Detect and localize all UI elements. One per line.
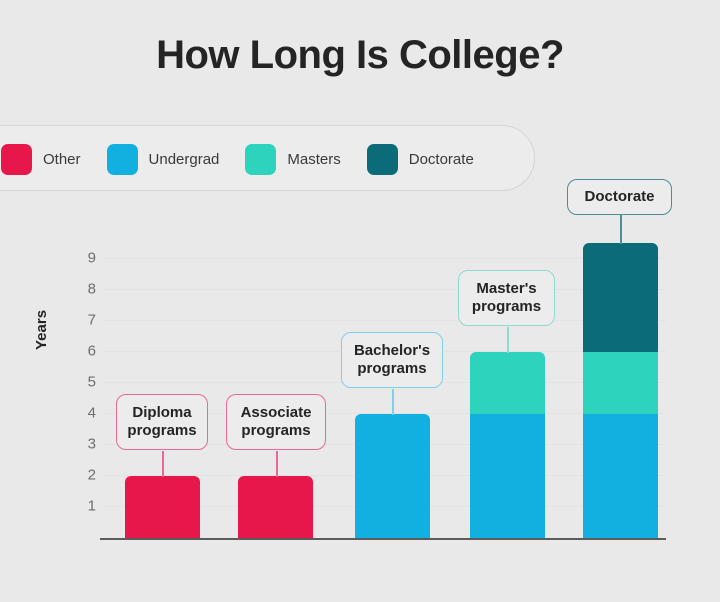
callout-line-1: Associate	[241, 404, 312, 422]
x-axis-line	[100, 538, 666, 540]
leader-line-diploma	[162, 451, 164, 477]
y-tick-9: 9	[70, 250, 96, 267]
callout-associate[interactable]: Associate programs	[226, 394, 326, 450]
y-tick-3: 3	[70, 436, 96, 453]
gridline-7	[104, 320, 666, 321]
bar-segment-undergrad	[583, 414, 658, 538]
bar-segment-other	[238, 476, 313, 538]
y-tick-8: 8	[70, 281, 96, 298]
y-tick-2: 2	[70, 467, 96, 484]
leader-line-bachelors	[392, 389, 394, 415]
gridline-9	[104, 258, 666, 259]
leader-line-masters	[507, 327, 509, 353]
bar-segment-masters	[470, 352, 545, 414]
callout-text: Diploma programs	[127, 404, 196, 441]
bar-bachelors[interactable]	[355, 414, 430, 538]
gridline-8	[104, 289, 666, 290]
y-tick-5: 5	[70, 374, 96, 391]
chart-canvas: How Long Is College? Other Undergrad Mas…	[0, 0, 720, 602]
bar-segment-doctorate	[583, 243, 658, 352]
callout-masters[interactable]: Master's programs	[458, 270, 555, 326]
callout-line-2: programs	[354, 360, 430, 378]
y-tick-6: 6	[70, 343, 96, 360]
callout-line-2: programs	[127, 422, 196, 440]
callout-text: Associate programs	[241, 404, 312, 441]
leader-line-associate	[276, 451, 278, 477]
callout-line-1: Bachelor's	[354, 342, 430, 360]
bar-segment-other	[125, 476, 200, 538]
callout-line-2: programs	[472, 298, 541, 316]
bar-diploma[interactable]	[125, 476, 200, 538]
callout-line-1: Master's	[472, 280, 541, 298]
bar-segment-undergrad	[355, 414, 430, 538]
callout-text: Bachelor's programs	[354, 342, 430, 379]
callout-text: Doctorate	[584, 188, 654, 206]
bar-masters[interactable]	[470, 352, 545, 538]
callout-line-1: Diploma	[127, 404, 196, 422]
bar-doctorate[interactable]	[583, 243, 658, 538]
callout-text: Master's programs	[472, 280, 541, 317]
callout-bachelors[interactable]: Bachelor's programs	[341, 332, 443, 388]
callout-doctorate[interactable]: Doctorate	[567, 179, 672, 215]
y-tick-7: 7	[70, 312, 96, 329]
bar-segment-undergrad	[470, 414, 545, 538]
bar-associate[interactable]	[238, 476, 313, 538]
y-tick-4: 4	[70, 405, 96, 422]
y-tick-1: 1	[70, 498, 96, 515]
leader-line-doctorate	[620, 215, 622, 244]
callout-diploma[interactable]: Diploma programs	[116, 394, 208, 450]
bar-segment-masters	[583, 352, 658, 414]
callout-line-1: Doctorate	[584, 188, 654, 206]
y-axis-label: Years	[33, 310, 50, 350]
callout-line-2: programs	[241, 422, 312, 440]
plot-area: Years 9 8 7 6 5 4 3 2 1	[0, 0, 720, 602]
